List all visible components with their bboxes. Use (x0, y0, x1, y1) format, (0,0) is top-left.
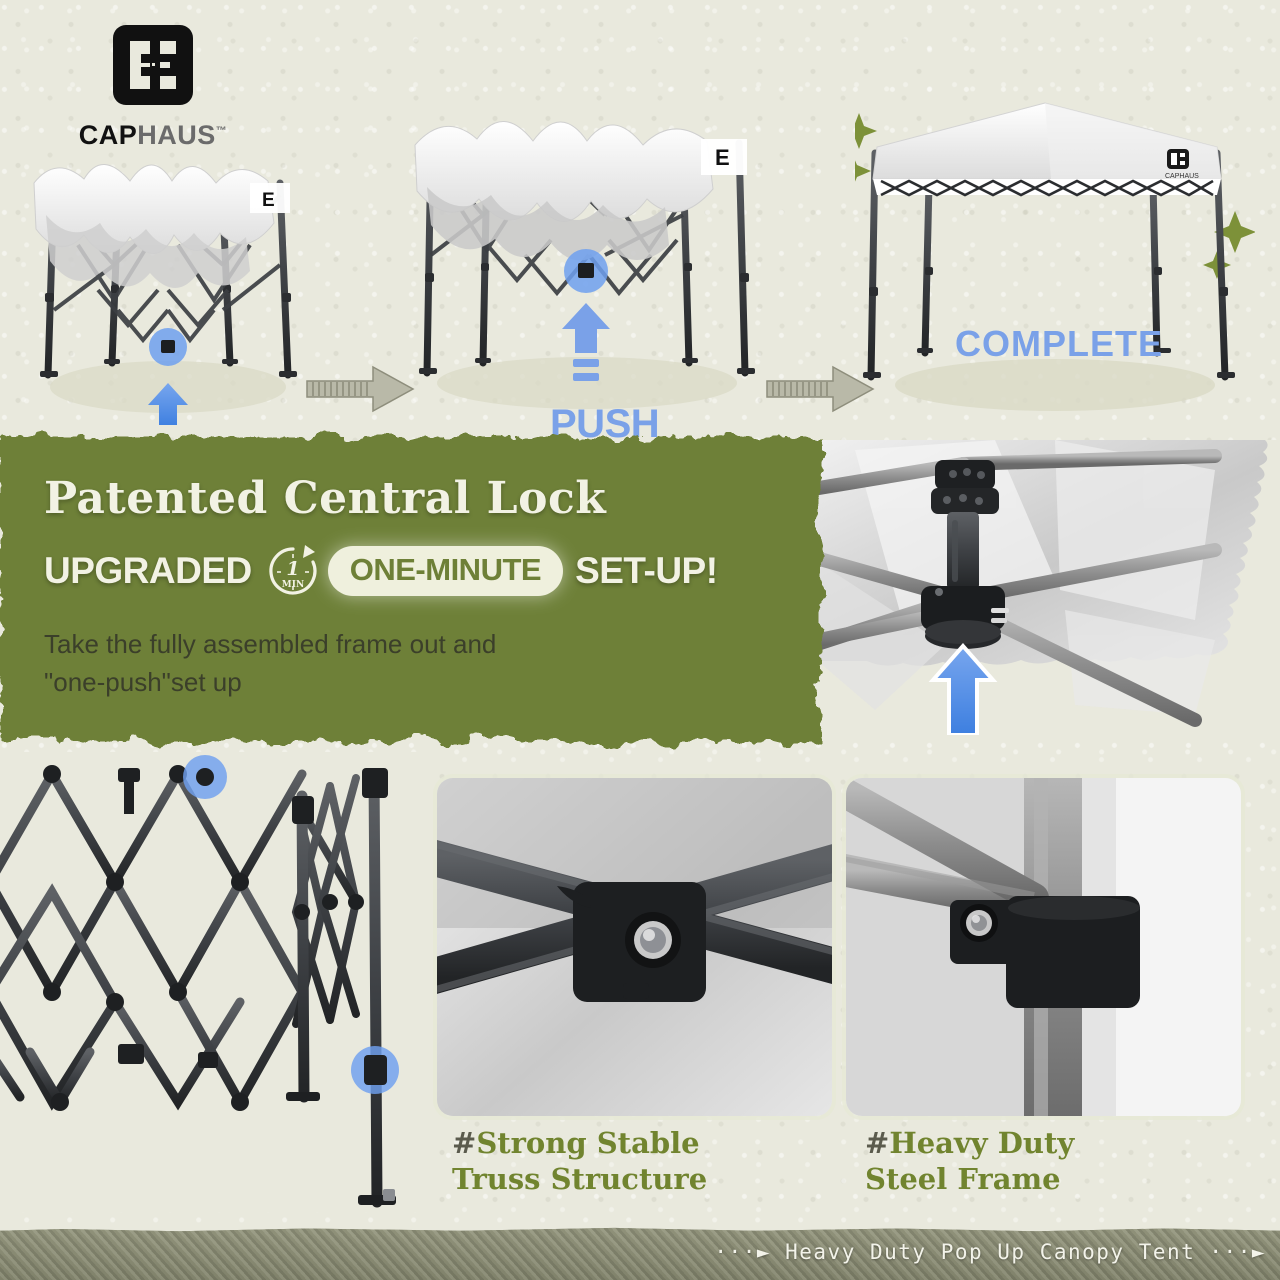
feature-truss-line1: Strong Stable (476, 1126, 699, 1160)
banner-body-line2: "one-push"set up (44, 664, 664, 702)
feature-label-truss: #Strong Stable Truss Structure (452, 1125, 707, 1198)
truss-bracket (557, 882, 706, 1002)
hash-symbol-truss: # (452, 1126, 476, 1160)
banner-headline: Patented Central Lock (44, 473, 820, 524)
banner-body-line1: Take the fully assembled frame out and (44, 626, 664, 664)
steel-frame-closeup-photo (846, 778, 1241, 1116)
one-minute-pill: ONE-MINUTE (328, 546, 563, 596)
hash-symbol-steel: # (865, 1126, 889, 1160)
svg-text:E: E (715, 145, 730, 170)
svg-text:1: 1 (286, 558, 299, 580)
setup-label: SET-UP! (575, 550, 717, 592)
step-arrow-1-icon (305, 363, 415, 415)
footer-band: ···► Heavy Duty Pop Up Canopy Tent ···► (0, 1224, 1280, 1280)
step-collapsed-tent: E (18, 95, 308, 425)
upgraded-label: UPGRADED (44, 550, 252, 592)
svg-text:E: E (262, 190, 275, 211)
central-lock-closeup-photo (795, 440, 1280, 735)
footer-tagline: ···► Heavy Duty Pop Up Canopy Tent ···► (714, 1240, 1266, 1264)
complete-label: COMPLETE (955, 323, 1163, 365)
feature-truss-line2: Truss Structure (452, 1161, 707, 1197)
truss-joint-closeup-photo (437, 778, 832, 1116)
step-push-tent: E (405, 95, 765, 415)
central-lock-banner: Patented Central Lock UPGRADED 1 MIN (0, 437, 820, 742)
one-minute-clock-icon: 1 MIN (264, 542, 322, 600)
svg-text:MIN: MIN (282, 580, 304, 590)
banner-subline: UPGRADED 1 MIN ONE-MINUTE SET-UP! (44, 542, 820, 600)
svg-text:CAPHAUS: CAPHAUS (1165, 173, 1199, 180)
step-complete-tent: CAPHAUS (855, 95, 1255, 425)
banner-body: Take the fully assembled frame out and "… (44, 626, 664, 701)
folding-truss-frame-photo (0, 752, 425, 1212)
feature-steel-line2: Steel Frame (865, 1161, 1074, 1197)
feature-steel-line1: Heavy Duty (889, 1126, 1074, 1160)
infographic-page: CAPHAUS™ (0, 0, 1280, 1280)
setup-steps-row: E (0, 95, 1280, 435)
feature-label-steel: #Heavy Duty Steel Frame (865, 1125, 1074, 1198)
